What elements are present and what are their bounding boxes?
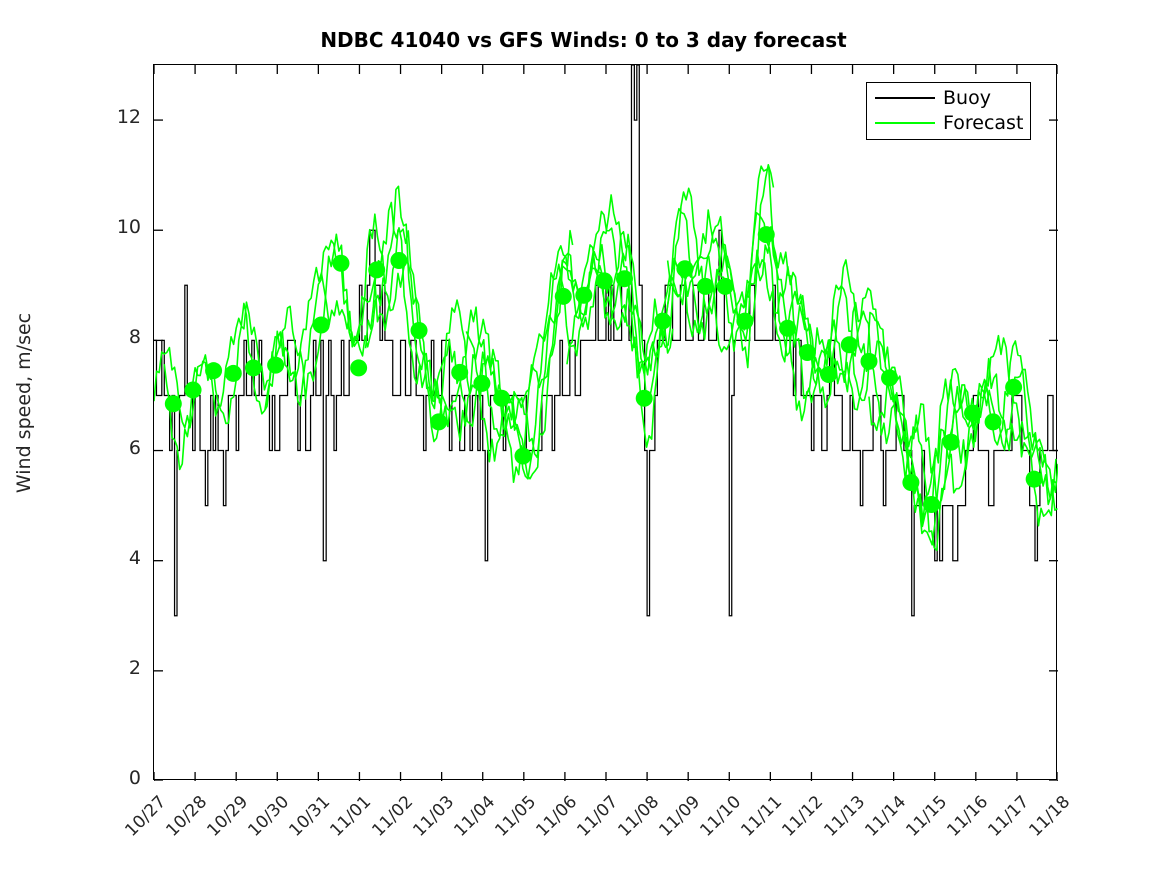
y-tick-label: 6	[99, 439, 141, 458]
x-tick-label: 11/05	[491, 792, 540, 841]
plot-area	[153, 64, 1057, 780]
y-tick-label: 2	[99, 659, 141, 678]
legend: Buoy Forecast	[866, 82, 1031, 140]
y-tick-label: 10	[99, 218, 141, 237]
legend-swatch-forecast	[875, 122, 935, 124]
chart-title: NDBC 41040 vs GFS Winds: 0 to 3 day fore…	[0, 28, 1167, 52]
chart-root: NDBC 41040 vs GFS Winds: 0 to 3 day fore…	[0, 0, 1167, 875]
x-tick-label: 10/31	[286, 792, 335, 841]
plot-svg	[154, 65, 1058, 781]
x-tick-label: 11/12	[779, 792, 828, 841]
x-tick-label: 10/30	[245, 792, 294, 841]
x-tick-label: 11/01	[327, 792, 376, 841]
x-tick-label: 11/07	[573, 792, 622, 841]
x-tick-label: 11/18	[1025, 792, 1074, 841]
x-axis-ticks-top	[154, 65, 1058, 781]
x-tick-label: 11/11	[738, 792, 787, 841]
y-axis-label: Wind speed, m/sec	[13, 143, 35, 663]
legend-item-buoy: Buoy	[867, 86, 1032, 111]
x-tick-label: 11/04	[450, 792, 499, 841]
legend-swatch-buoy	[875, 97, 935, 99]
x-tick-label: 10/28	[162, 792, 211, 841]
x-tick-label: 11/16	[943, 792, 992, 841]
y-tick-label: 8	[99, 328, 141, 347]
x-tick-label: 11/09	[656, 792, 705, 841]
x-tick-label: 11/06	[532, 792, 581, 841]
x-tick-label: 11/13	[820, 792, 869, 841]
x-tick-label: 11/03	[409, 792, 458, 841]
x-tick-label: 11/10	[697, 792, 746, 841]
x-tick-label: 11/02	[368, 792, 417, 841]
x-tick-label: 11/08	[614, 792, 663, 841]
legend-item-forecast: Forecast	[867, 111, 1032, 136]
x-tick-label: 11/14	[861, 792, 910, 841]
y-axis-tick-labels: 024681012	[95, 0, 141, 875]
x-tick-label: 11/15	[902, 792, 951, 841]
y-tick-label: 0	[99, 769, 141, 788]
legend-label-forecast: Forecast	[943, 111, 1023, 136]
y-tick-label: 4	[99, 549, 141, 568]
x-tick-label: 10/29	[204, 792, 253, 841]
x-axis-tick-labels: 10/2710/2810/2910/3010/3111/0111/0211/03…	[0, 788, 1167, 875]
x-tick-label: 10/27	[121, 792, 170, 841]
legend-label-buoy: Buoy	[943, 86, 991, 111]
x-tick-label: 11/17	[984, 792, 1033, 841]
y-tick-label: 12	[99, 108, 141, 127]
